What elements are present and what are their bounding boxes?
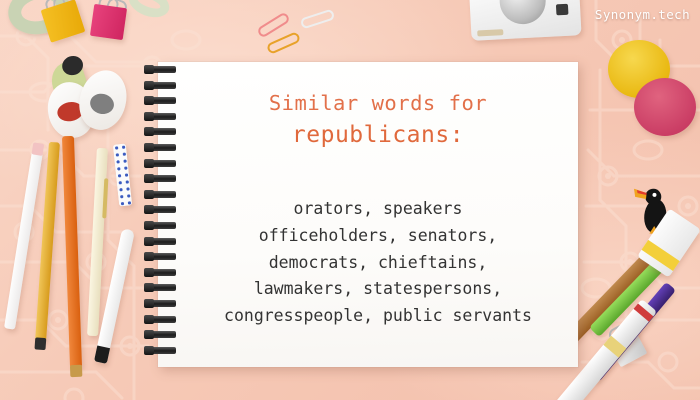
spiral-ring-knob — [144, 268, 154, 277]
spiral-ring — [144, 206, 176, 213]
camera-flash-icon — [556, 4, 569, 16]
synonym-row: officeholders, senators, — [192, 223, 564, 250]
camera-grip — [477, 29, 503, 36]
spiral-ring — [144, 347, 176, 354]
synonym-row: congresspeople, public servants — [192, 303, 564, 330]
spiral-ring-knob — [144, 143, 154, 152]
spiral-ring — [144, 113, 176, 120]
eraser-logo-gray — [88, 91, 116, 116]
spiral-ring-knob — [144, 159, 154, 168]
spiral-ring-knob — [144, 346, 154, 355]
spiral-ring — [144, 160, 176, 167]
spiral-ring — [144, 253, 176, 260]
spiral-ring — [144, 284, 176, 291]
brand-watermark: Synonym.tech — [595, 7, 690, 22]
camera-lens-icon — [499, 0, 547, 25]
spiral-binding — [144, 66, 178, 364]
spiral-ring-knob — [144, 81, 154, 90]
spiral-ring — [144, 316, 176, 323]
spiral-ring-knob — [144, 205, 154, 214]
spiral-ring — [144, 331, 176, 338]
pencil-graphite-tip — [70, 365, 82, 377]
spiral-ring-knob — [144, 174, 154, 183]
spiral-ring-knob — [144, 127, 154, 136]
spiral-ring — [144, 66, 176, 73]
synonym-list: orators, speakers officeholders, senator… — [192, 196, 564, 330]
spiral-ring-knob — [144, 315, 154, 324]
synonym-row: orators, speakers — [192, 196, 564, 223]
macaron-pink — [634, 78, 696, 136]
spiral-ring-knob — [144, 221, 154, 230]
spiral-ring-knob — [144, 252, 154, 261]
query-word: republicans: — [192, 118, 564, 153]
spiral-ring — [144, 300, 176, 307]
spiral-ring-knob — [144, 237, 154, 246]
spiral-ring-knob — [144, 299, 154, 308]
pencil-graphite-tip — [34, 337, 46, 350]
title-prefix: Similar words for — [192, 90, 564, 118]
spiral-ring — [144, 144, 176, 151]
spiral-ring — [144, 238, 176, 245]
clip-body — [90, 4, 127, 40]
spiral-ring — [144, 175, 176, 182]
pencil-eraser-pink — [32, 142, 45, 156]
spiral-ring-knob — [144, 330, 154, 339]
spiral-ring — [144, 191, 176, 198]
spiral-ring-knob — [144, 190, 154, 199]
spiral-ring — [144, 128, 176, 135]
spiral-ring — [144, 222, 176, 229]
synonym-row: democrats, chieftains, — [192, 250, 564, 277]
spiral-ring-knob — [144, 283, 154, 292]
marker-band-red — [634, 303, 654, 321]
spiral-ring-knob — [144, 112, 154, 121]
notepad-content: Similar words for republicans: orators, … — [192, 90, 564, 330]
synonym-row: lawmakers, statespersons, — [192, 276, 564, 303]
spiral-ring — [144, 97, 176, 104]
spiral-ring-knob — [144, 96, 154, 105]
camera — [468, 0, 581, 41]
spiral-ring — [144, 269, 176, 276]
spiral-ring — [144, 82, 176, 89]
spiral-ring-knob — [144, 65, 154, 74]
notepad: Similar words for republicans: orators, … — [158, 62, 578, 367]
binder-clip-pink — [90, 4, 127, 40]
